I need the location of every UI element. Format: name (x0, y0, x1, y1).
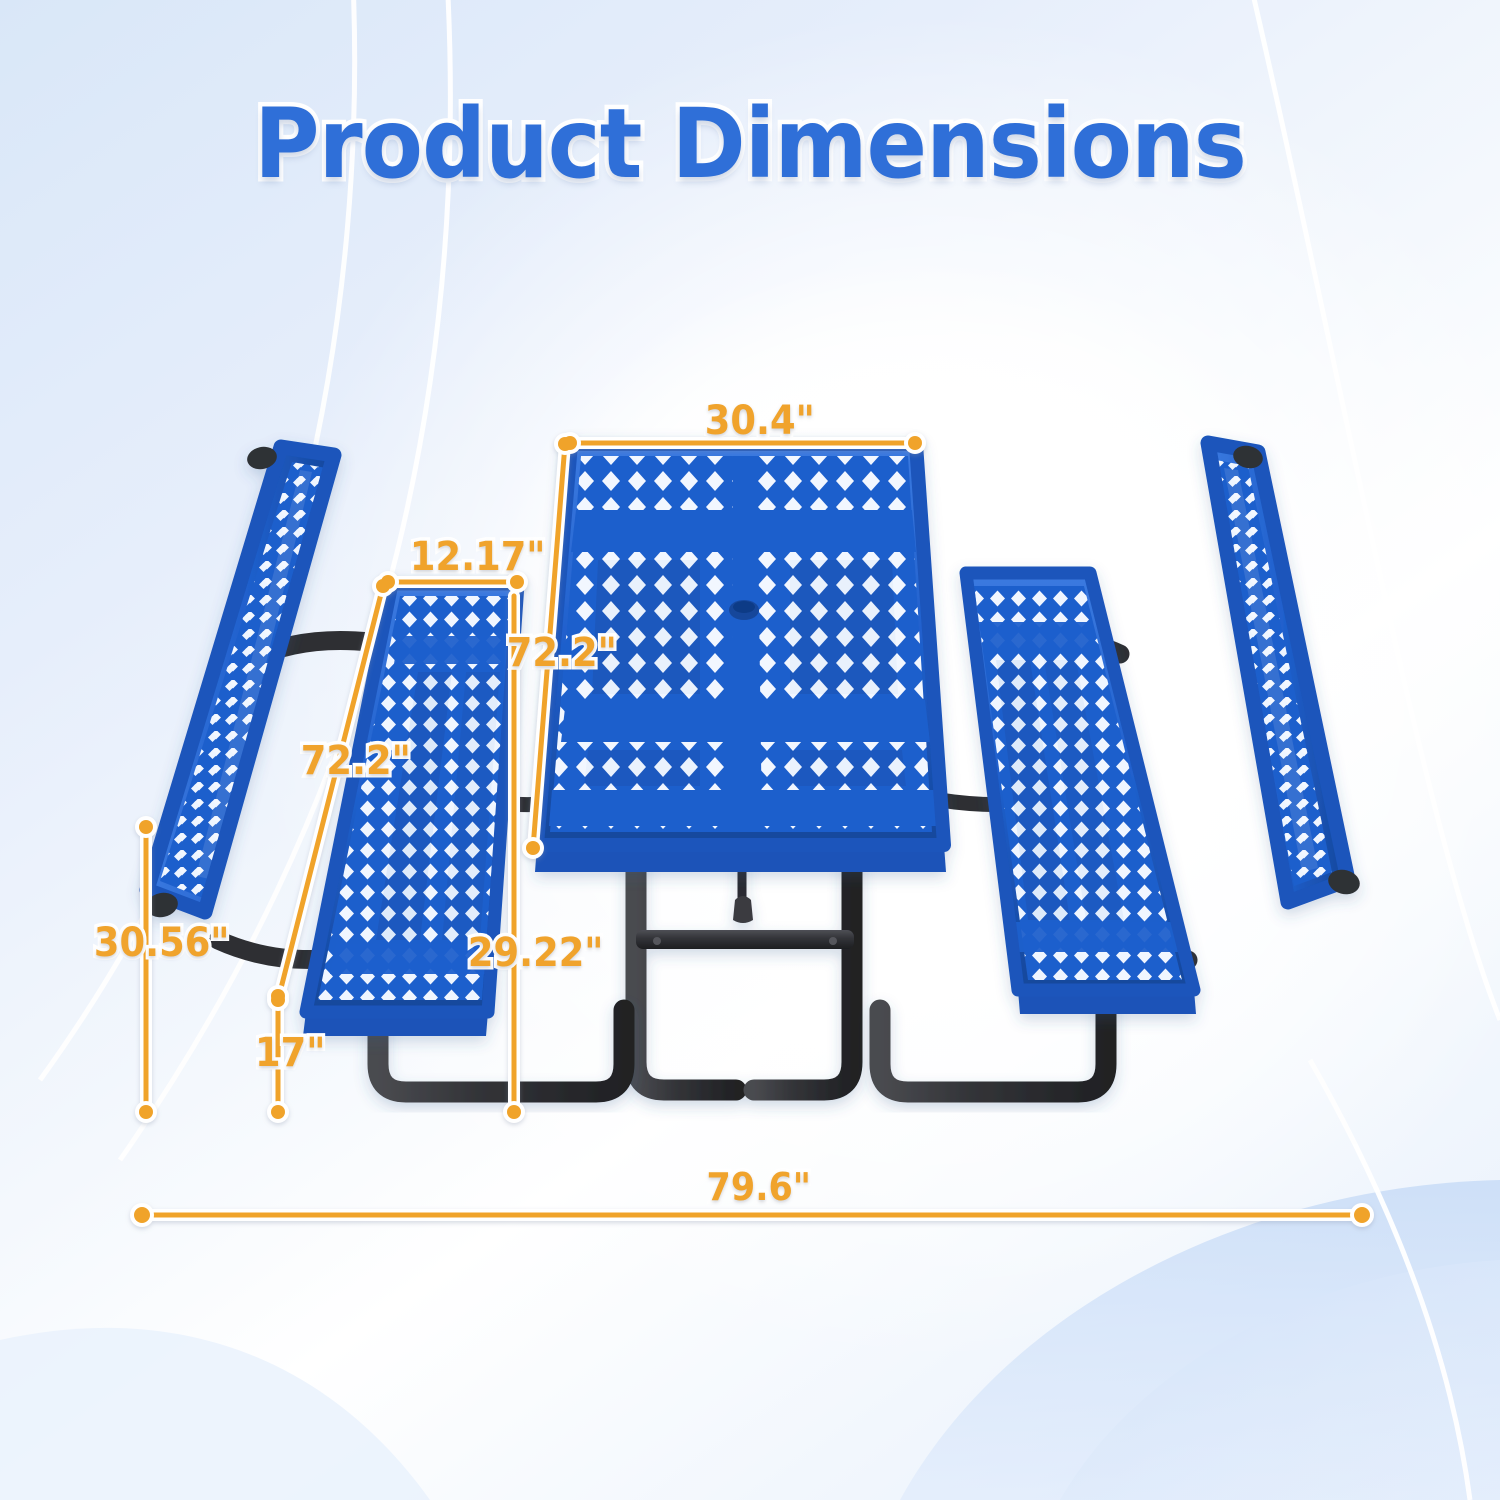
dim-label-bench-length: 72.2" (301, 738, 411, 784)
dimension-overlay (0, 0, 1500, 1500)
dim-label-tabletop-width: 30.4" (705, 398, 815, 444)
dim-label-bench-depth: 12.17" (410, 534, 546, 580)
dim-line-bench-72-2 (278, 586, 383, 1000)
dim-label-tabletop-length: 72.2" (507, 630, 617, 676)
dim-label-backrest-height: 30.56" (94, 920, 230, 966)
infographic-canvas: Product Dimensions (0, 0, 1500, 1500)
dim-label-seat-height: 17" (255, 1030, 325, 1076)
dim-label-table-height: 29.22" (468, 930, 604, 976)
dim-label-overall-width: 79.6" (707, 1165, 811, 1209)
